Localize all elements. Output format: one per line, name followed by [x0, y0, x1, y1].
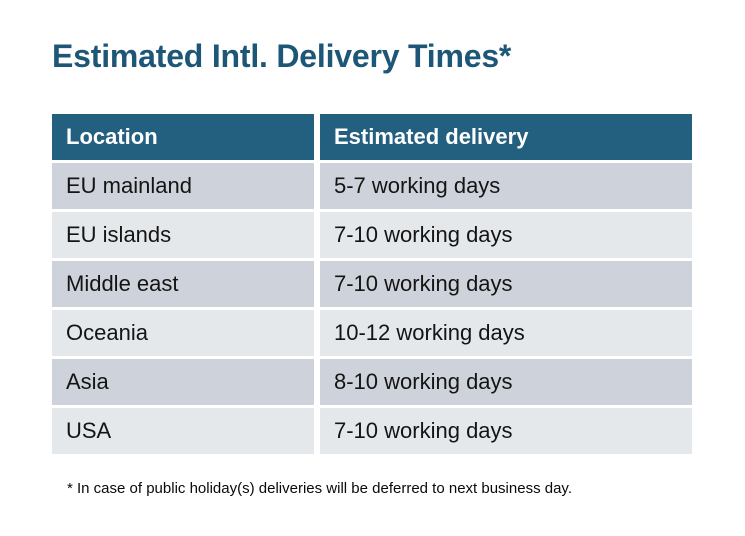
- table-row: Oceania 10-12 working days: [52, 310, 692, 356]
- table-row: EU islands 7-10 working days: [52, 212, 692, 258]
- table-row: EU mainland 5-7 working days: [52, 163, 692, 209]
- delivery-times-table: Location Estimated delivery EU mainland …: [52, 114, 692, 454]
- cell-delivery: 5-7 working days: [320, 163, 692, 209]
- table-row: USA 7-10 working days: [52, 408, 692, 454]
- cell-delivery: 7-10 working days: [320, 408, 692, 454]
- table-row: Asia 8-10 working days: [52, 359, 692, 405]
- delivery-times-page: Estimated Intl. Delivery Times* Location…: [0, 0, 745, 536]
- table-row: Middle east 7-10 working days: [52, 261, 692, 307]
- cell-location: Oceania: [52, 310, 314, 356]
- cell-location: Middle east: [52, 261, 314, 307]
- cell-location: Asia: [52, 359, 314, 405]
- cell-delivery: 8-10 working days: [320, 359, 692, 405]
- footnote-text: * In case of public holiday(s) deliverie…: [67, 480, 572, 497]
- cell-location: USA: [52, 408, 314, 454]
- cell-delivery: 7-10 working days: [320, 261, 692, 307]
- cell-location: EU islands: [52, 212, 314, 258]
- page-title: Estimated Intl. Delivery Times*: [52, 38, 511, 75]
- column-header-location: Location: [52, 114, 314, 160]
- table-header-row: Location Estimated delivery: [52, 114, 692, 160]
- column-header-estimated-delivery: Estimated delivery: [320, 114, 692, 160]
- cell-delivery: 7-10 working days: [320, 212, 692, 258]
- cell-delivery: 10-12 working days: [320, 310, 692, 356]
- cell-location: EU mainland: [52, 163, 314, 209]
